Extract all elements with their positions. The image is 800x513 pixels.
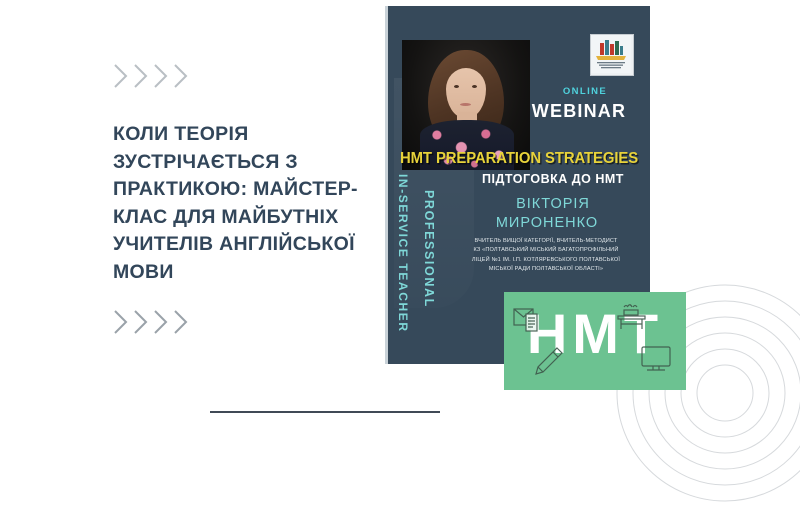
chevron-right-icon <box>113 62 130 90</box>
credentials-line: ЛІЦЕЙ №1 ІМ. І.П. КОТЛЯРЕВСЬКОГО ПОЛТАВС… <box>446 256 646 265</box>
vertical-label-professional: PROFESSIONAL <box>422 190 436 308</box>
chevron-group-top <box>113 62 190 90</box>
speaker-credentials: ВЧИТЕЛЬ ВИЩОЇ КАТЕГОРІЇ, ВЧИТЕЛЬ-МЕТОДИС… <box>446 237 646 274</box>
monitor-icon <box>639 344 675 377</box>
chevron-right-icon <box>153 62 170 90</box>
chevron-right-icon <box>153 308 170 336</box>
page-title: КОЛИ ТЕОРІЯ ЗУСТРІЧАЄТЬСЯ З ПРАКТИКОЮ: М… <box>113 121 375 286</box>
divider-rule <box>210 411 440 413</box>
chevron-right-icon <box>133 308 150 336</box>
webinar-label: WEBINAR <box>516 101 642 122</box>
strategies-title: НМТ PREPARATION STRATEGIES <box>395 150 643 168</box>
pencil-icon <box>532 344 566 378</box>
desk-plants-icon <box>614 303 650 333</box>
credentials-line: ВЧИТЕЛЬ ВИЩОЇ КАТЕГОРІЇ, ВЧИТЕЛЬ-МЕТОДИС… <box>446 237 646 246</box>
document-envelope-icon <box>513 306 547 336</box>
vertical-label-in-service-teacher: IN-SERVICE TEACHER <box>396 174 410 333</box>
credentials-line: КЗ «ПОЛТАВСЬКИЙ МІСЬКИЙ БАГАТОПРОФІЛЬНИЙ <box>446 246 646 255</box>
credentials-line: МІСЬКОЇ РАДИ ПОЛТАВСЬКОЇ ОБЛАСТІ» <box>446 265 646 274</box>
nmt-green-panel: НМТ <box>504 292 686 390</box>
university-emblem-logo <box>590 34 634 76</box>
chevron-right-icon <box>113 308 130 336</box>
chevron-right-icon <box>173 308 190 336</box>
online-label: ONLINE <box>528 86 642 97</box>
chevron-right-icon <box>133 62 150 90</box>
chevron-group-bottom <box>113 308 190 336</box>
preparation-subtitle: ПІДТОГОВКА ДО НМТ <box>458 172 648 186</box>
speaker-first-name: ВІКТОРІЯ <box>458 196 648 212</box>
chevron-right-icon <box>173 62 190 90</box>
speaker-last-name: МИРОНЕНКО <box>446 215 648 231</box>
